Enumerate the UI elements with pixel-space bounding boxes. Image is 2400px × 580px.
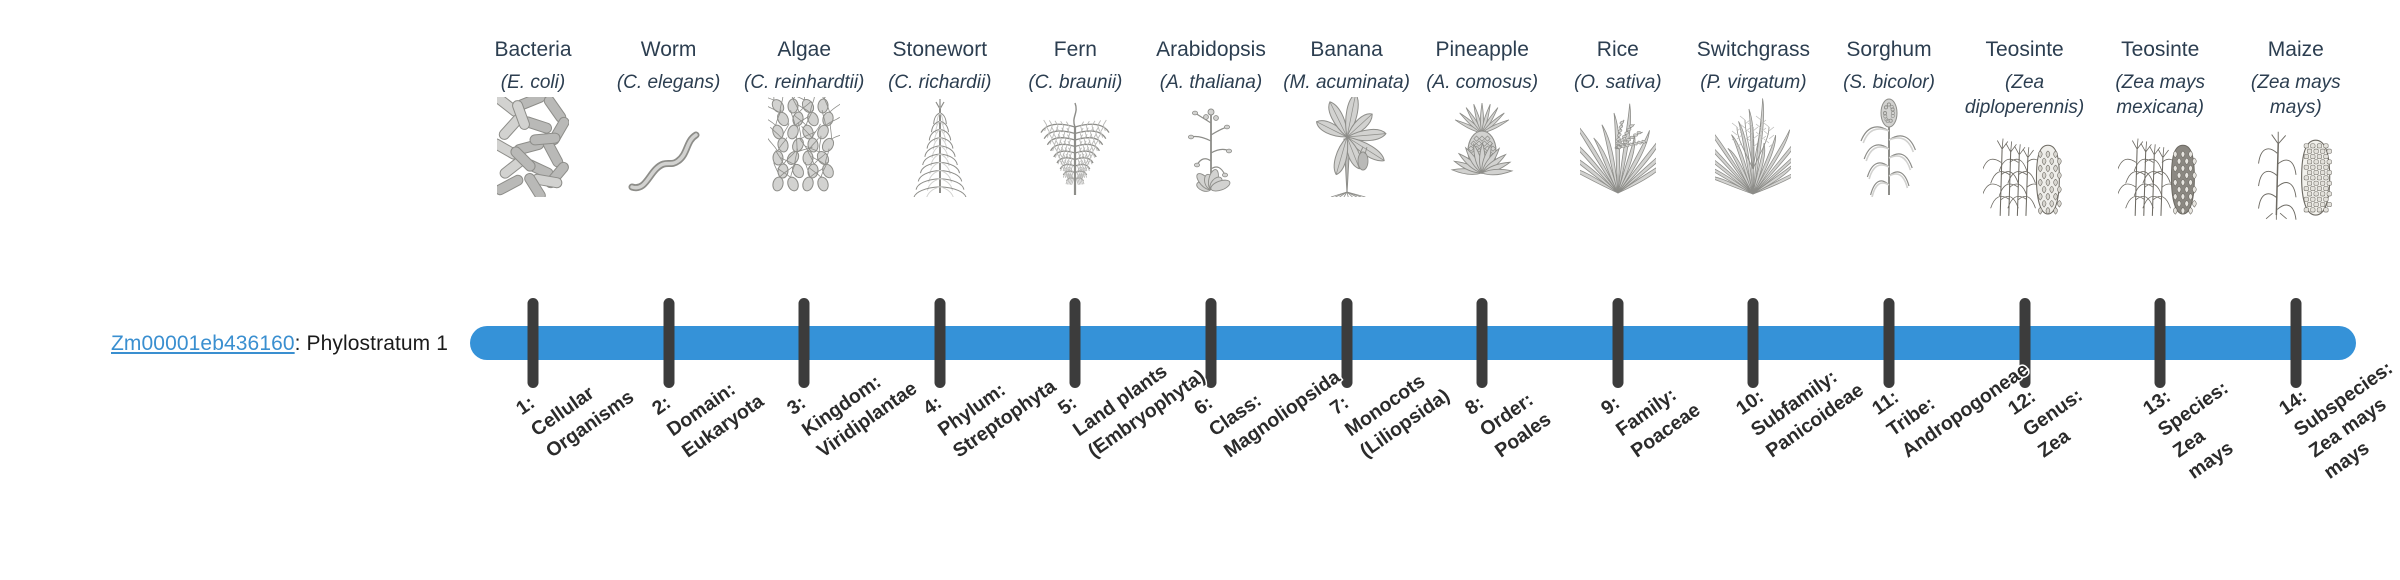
species-common-name: Switchgrass: [1689, 36, 1817, 64]
arabidopsis-illustration: [1147, 101, 1275, 197]
species-common-name: Teosinte: [2096, 36, 2224, 64]
species-scientific-name: (A. thaliana): [1147, 70, 1275, 95]
species-common-name: Stonewort: [876, 36, 1004, 64]
switchgrass-illustration: [1689, 101, 1817, 197]
fern-illustration: [1011, 101, 1139, 197]
banana-illustration: [1283, 101, 1411, 197]
species-common-name: Maize: [2232, 36, 2360, 64]
species-column-5: Fern(C. braunii): [1011, 36, 1139, 197]
species-column-7: Banana(M. acuminata): [1283, 36, 1411, 197]
species-column-4: Stonewort(C. richardii): [876, 36, 1004, 197]
species-scientific-name: (M. acuminata): [1283, 70, 1411, 95]
species-column-10: Switchgrass(P. virgatum): [1689, 36, 1817, 197]
species-common-name: Banana: [1283, 36, 1411, 64]
species-column-14: Maize(Zea mays mays): [2232, 36, 2360, 222]
species-common-name: Teosinte: [1961, 36, 2089, 64]
species-column-11: Sorghum(S. bicolor): [1825, 36, 1953, 197]
species-column-2: Worm(C. elegans): [605, 36, 733, 197]
species-common-name: Fern: [1011, 36, 1139, 64]
gene-label-separator: :: [295, 332, 307, 355]
pineapple-illustration: [1418, 101, 1546, 197]
species-common-name: Bacteria: [469, 36, 597, 64]
species-column-1: Bacteria(E. coli): [469, 36, 597, 197]
species-column-12: Teosinte(Zea diploperennis): [1961, 36, 2089, 222]
species-scientific-name: (E. coli): [469, 70, 597, 95]
species-scientific-name: (Zea mays mexicana): [2096, 70, 2224, 120]
species-scientific-name: (P. virgatum): [1689, 70, 1817, 95]
species-scientific-name: (A. comosus): [1418, 70, 1546, 95]
species-column-13: Teosinte(Zea mays mexicana): [2096, 36, 2224, 222]
species-common-name: Algae: [740, 36, 868, 64]
species-scientific-name: (C. reinhardtii): [740, 70, 868, 95]
teosinte-diploperennis-illustration: [1961, 126, 2089, 222]
maize-illustration: [2232, 126, 2360, 222]
rice-illustration: [1554, 101, 1682, 197]
species-scientific-name: (O. sativa): [1554, 70, 1682, 95]
stonewort-illustration: [876, 101, 1004, 197]
sorghum-illustration: [1825, 101, 1953, 197]
gene-phylostratum-value: Phylostratum 1: [307, 332, 448, 355]
species-column-9: Rice(O. sativa): [1554, 36, 1682, 197]
species-column-8: Pineapple(A. comosus): [1418, 36, 1546, 197]
species-common-name: Worm: [605, 36, 733, 64]
teosinte-mexicana-illustration: [2096, 126, 2224, 222]
species-column-6: Arabidopsis(A. thaliana): [1147, 36, 1275, 197]
phylostratigraphy-figure: Zm00001eb436160: Phylostratum 1 Bacteria…: [0, 0, 2400, 580]
species-scientific-name: (C. elegans): [605, 70, 733, 95]
species-scientific-name: (C. richardii): [876, 70, 1004, 95]
gene-accession-link[interactable]: Zm00001eb436160: [111, 332, 295, 355]
gene-phylostratum-label: Zm00001eb436160: Phylostratum 1: [0, 332, 448, 356]
species-scientific-name: (Zea mays mays): [2232, 70, 2360, 120]
worm-illustration: [605, 101, 733, 197]
species-common-name: Pineapple: [1418, 36, 1546, 64]
bacteria-illustration: [469, 101, 597, 197]
species-scientific-name: (Zea diploperennis): [1961, 70, 2089, 120]
species-scientific-name: (C. braunii): [1011, 70, 1139, 95]
species-common-name: Arabidopsis: [1147, 36, 1275, 64]
species-common-name: Sorghum: [1825, 36, 1953, 64]
timeline-tick-1: [528, 298, 539, 388]
species-column-3: Algae(C. reinhardtii): [740, 36, 868, 197]
species-common-name: Rice: [1554, 36, 1682, 64]
species-scientific-name: (S. bicolor): [1825, 70, 1953, 95]
algae-illustration: [740, 101, 868, 197]
